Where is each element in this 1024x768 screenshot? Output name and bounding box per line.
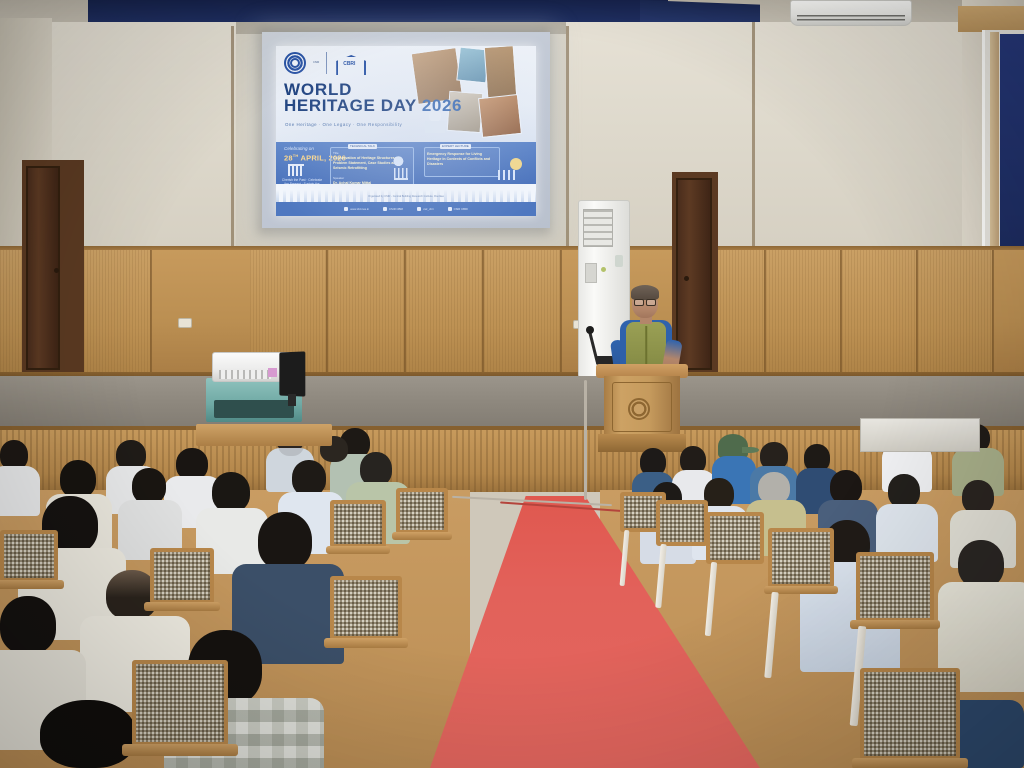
chair-back <box>856 552 934 622</box>
ac-power-led <box>601 267 606 272</box>
monitor-screen <box>279 351 305 396</box>
slide-title-line2: HERITAGE DAY <box>284 96 417 115</box>
door-knob[interactable] <box>54 268 59 273</box>
instagram-link: csir_cbri <box>417 207 433 211</box>
cap-head <box>718 434 748 458</box>
wall-seam-right <box>566 26 569 252</box>
chair-arm <box>0 580 64 589</box>
instagram-label: csir_cbri <box>423 207 433 211</box>
csir-gear-logo <box>284 52 306 74</box>
head <box>258 512 312 570</box>
csir-logo-caption: CSIR <box>313 61 319 64</box>
ac-grille-icon <box>583 209 613 247</box>
slide-title-block: WORLD HERITAGE DAY 2026 <box>284 82 462 115</box>
front-desk-right <box>860 418 980 452</box>
session-2-title: Emergency Response for Living Heritage i… <box>427 152 497 167</box>
wall-panel <box>918 250 994 380</box>
unesco-temple-icon <box>288 164 304 176</box>
front-desk-left <box>196 424 332 446</box>
chair-arm <box>326 546 390 554</box>
wall-seam-left <box>231 26 234 252</box>
chair-back <box>132 660 228 746</box>
session-1-badge: TECHNICAL TALK <box>348 144 377 149</box>
door-right-rear[interactable] <box>676 178 712 370</box>
head <box>958 540 1004 588</box>
head <box>0 596 56 654</box>
sun-icon <box>510 158 522 170</box>
wall-panel <box>406 250 484 380</box>
chair-back <box>330 576 402 640</box>
chair-arm <box>144 602 220 611</box>
chair-arm <box>122 744 238 756</box>
wall-panel <box>484 250 562 380</box>
slide-celebrating-label: Celebrating on <box>284 146 314 151</box>
globe-icon <box>344 207 348 211</box>
session-2-badge: EXPERT LECTURE <box>440 144 471 149</box>
chair-back <box>0 530 58 582</box>
chair-back <box>860 668 960 760</box>
slide-footer-note: Organised by CSIR - Central Building Res… <box>276 195 536 198</box>
door-left-rear[interactable] <box>26 166 60 370</box>
slide-skyline-strip <box>276 184 536 202</box>
slide-title-year: 2026 <box>422 96 462 115</box>
cbri-house-logo: CBRI <box>334 52 364 74</box>
logo-divider <box>326 52 327 74</box>
head <box>60 460 96 498</box>
slide-date-sup: TH <box>293 153 299 158</box>
wall-cable-drop <box>584 380 587 500</box>
youtube-label: CSIR CBRI <box>454 207 468 211</box>
chair-back <box>330 500 386 548</box>
split-ac-icon <box>790 0 912 26</box>
wall-panel <box>328 250 406 380</box>
wall-socket-left <box>178 318 192 328</box>
wall-panel <box>72 250 152 380</box>
chair-arm <box>852 758 968 768</box>
eyeglasses-icon <box>634 299 656 304</box>
ac-display-panel <box>615 255 623 267</box>
youtube-icon <box>448 207 452 211</box>
facebook-label: CSIR CBRI <box>389 207 403 211</box>
wall-panel <box>842 250 918 380</box>
bank-building-icon <box>394 168 408 180</box>
chair-arm <box>392 532 452 540</box>
ac-control-panel[interactable] <box>585 263 597 283</box>
slide-date-day: 28 <box>284 154 293 163</box>
chair-back <box>656 500 708 546</box>
head <box>40 700 136 768</box>
csir-emblem-icon <box>628 398 650 420</box>
head <box>830 470 862 504</box>
torso <box>0 466 40 516</box>
cbri-logo-text: CBRI <box>343 61 355 67</box>
head <box>962 480 994 514</box>
facebook-link: CSIR CBRI <box>383 207 403 211</box>
speaker-hair <box>631 285 659 300</box>
slide-footer-bar: www.cbri.res.in CSIR CBRI csir_cbri CSIR… <box>276 202 536 216</box>
projection-screen: CSIR CBRI WORLD HERITAGE DAY 2026 One He… <box>262 32 550 228</box>
head <box>292 460 326 496</box>
podium-base <box>598 434 686 452</box>
door-knob[interactable] <box>684 276 689 281</box>
slide-tagline: One Heritage · One Legacy · One Responsi… <box>285 122 402 127</box>
chair-back <box>706 512 764 564</box>
website-label: www.cbri.res.in <box>350 207 369 211</box>
youtube-link: CSIR CBRI <box>448 207 468 211</box>
microphone-icon <box>586 326 594 334</box>
chair-back <box>150 548 214 604</box>
auditorium-photo: CSIR CBRI WORLD HERITAGE DAY 2026 One He… <box>0 0 1024 768</box>
session-1-prefix: Title <box>333 151 339 155</box>
facebook-icon <box>383 207 387 211</box>
wall-seam-far-right <box>752 22 755 252</box>
back-wall-wood-panelling <box>0 250 1024 380</box>
projector-label-sticker <box>268 368 277 377</box>
cloud-lightning-icon <box>392 154 408 166</box>
head <box>132 468 166 504</box>
slide-logo-row: CSIR CBRI <box>284 52 364 74</box>
city-skyline-icon <box>498 170 518 180</box>
head <box>212 472 250 512</box>
monument-photo-5 <box>478 94 522 138</box>
session-1-speaker-label: Speaker <box>333 176 344 180</box>
chair-back <box>396 488 448 534</box>
presentation-slide: CSIR CBRI WORLD HERITAGE DAY 2026 One He… <box>276 46 536 216</box>
monitor-stand <box>288 394 296 406</box>
website-link: www.cbri.res.in <box>344 207 369 211</box>
head <box>888 474 920 508</box>
window-head-trim <box>958 6 1024 32</box>
head <box>360 452 392 486</box>
chair-back <box>768 528 834 588</box>
wall-panel <box>766 250 842 380</box>
chair-arm <box>324 638 408 648</box>
instagram-icon <box>417 207 421 211</box>
cap-brim-icon <box>742 447 759 453</box>
